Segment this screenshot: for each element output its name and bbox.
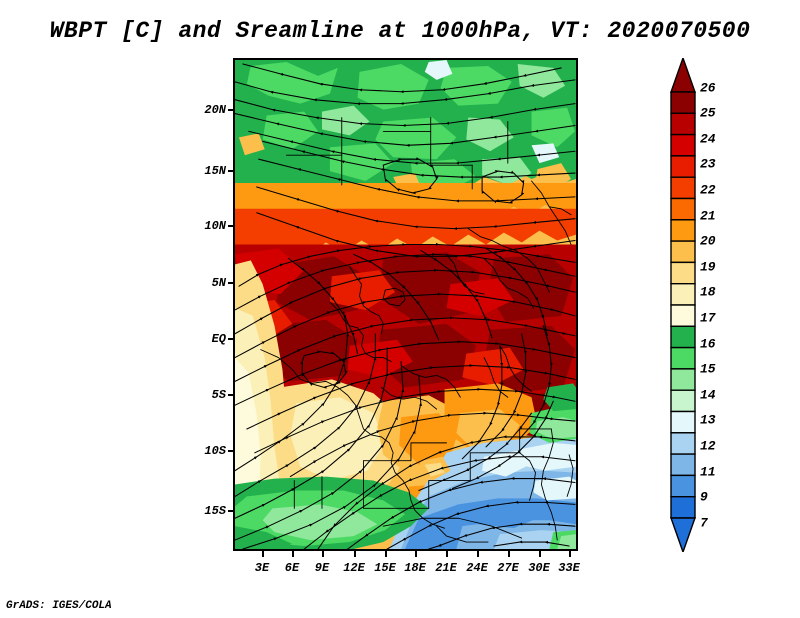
colorbar-tick-label: 12 (700, 439, 716, 454)
x-axis-label: 30E (528, 561, 550, 575)
x-axis-label: 27E (497, 561, 519, 575)
colorbar-tick-label: 13 (700, 413, 716, 428)
y-tick (228, 338, 234, 340)
x-axis-label: 15E (374, 561, 396, 575)
y-tick (228, 170, 234, 172)
page-title: WBPT [C] and Sreamline at 1000hPa, VT: 2… (0, 18, 800, 44)
x-tick (292, 551, 294, 557)
colorbar-swatches (670, 58, 696, 552)
x-tick (539, 551, 541, 557)
colorbar-tick-label: 11 (700, 465, 716, 480)
colorbar-tick-label: 7 (700, 516, 708, 531)
x-axis-label: 18E (404, 561, 426, 575)
colorbar-tick-label: 18 (700, 285, 716, 300)
x-axis-label: 12E (343, 561, 365, 575)
colorbar-tick-label: 16 (700, 337, 716, 352)
colorbar-tick-label: 22 (700, 183, 716, 198)
y-axis-label: 20N (186, 103, 226, 117)
colorbar-tick-label: 15 (700, 362, 716, 377)
x-axis-label: 6E (285, 561, 299, 575)
colorbar-tick-label: 20 (700, 234, 716, 249)
y-axis-label: EQ (186, 332, 226, 346)
y-axis-label: 10N (186, 219, 226, 233)
x-tick (569, 551, 571, 557)
x-axis-label: 3E (255, 561, 269, 575)
colorbar-tick-label: 23 (700, 157, 716, 172)
colorbar (670, 58, 696, 552)
y-axis-label: 5N (186, 276, 226, 290)
x-axis-label: 24E (466, 561, 488, 575)
y-tick (228, 225, 234, 227)
x-tick (385, 551, 387, 557)
y-tick (228, 510, 234, 512)
map-raster (235, 60, 576, 549)
x-axis-label: 9E (315, 561, 329, 575)
y-axis-label: 15N (186, 164, 226, 178)
x-tick (262, 551, 264, 557)
x-axis-label: 33E (558, 561, 580, 575)
colorbar-tick-label: 19 (700, 260, 716, 275)
y-tick (228, 109, 234, 111)
y-axis-label: 15S (186, 504, 226, 518)
colorbar-tick-label: 25 (700, 106, 716, 121)
y-axis-label: 5S (186, 388, 226, 402)
x-tick (415, 551, 417, 557)
colorbar-tick-label: 24 (700, 132, 716, 147)
x-tick (477, 551, 479, 557)
x-tick (508, 551, 510, 557)
y-tick (228, 394, 234, 396)
colorbar-tick-label: 9 (700, 490, 708, 505)
x-tick (446, 551, 448, 557)
x-tick (322, 551, 324, 557)
colorbar-tick-label: 26 (700, 81, 716, 96)
map-plot-area (233, 58, 578, 551)
y-tick (228, 450, 234, 452)
x-tick (354, 551, 356, 557)
colorbar-tick-label: 14 (700, 388, 716, 403)
colorbar-tick-label: 17 (700, 311, 716, 326)
y-axis-label: 10S (186, 444, 226, 458)
y-tick (228, 282, 234, 284)
credit-text: GrADS: IGES/COLA (6, 600, 112, 612)
x-axis-label: 21E (435, 561, 457, 575)
colorbar-tick-label: 21 (700, 209, 716, 224)
